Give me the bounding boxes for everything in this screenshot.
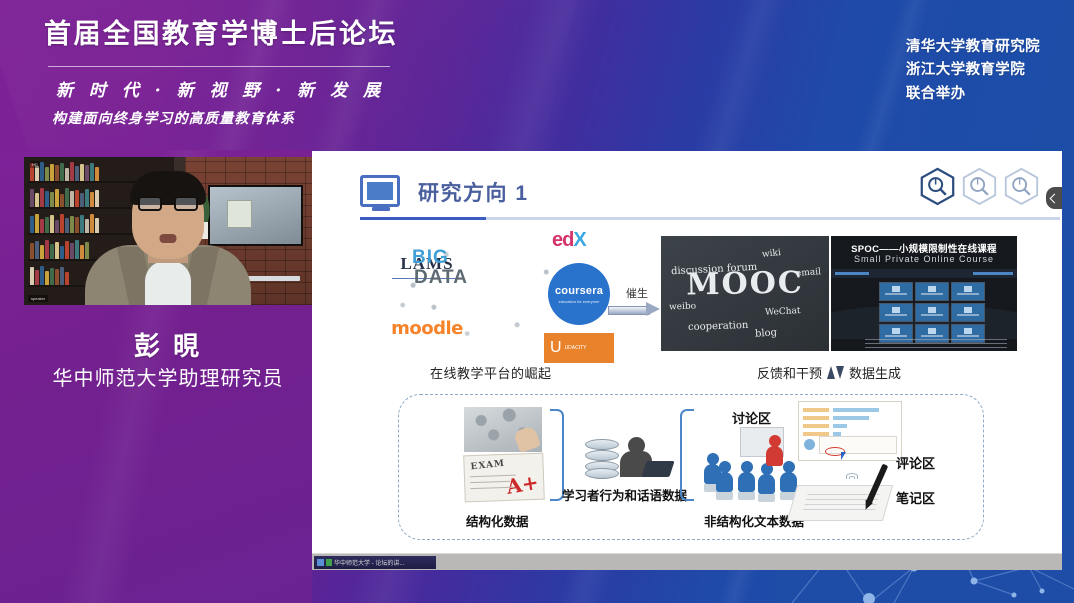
caption-feedback: 反馈和干预 [757, 363, 822, 382]
speaker-figure [85, 181, 251, 305]
wifi-icon [842, 465, 862, 479]
event-title: 首届全国教育学博士后论坛 [44, 18, 430, 52]
slide-title: 研究方向 1 [418, 177, 529, 207]
spoc-title-cn: SPOC——小规模限制性在线课程 [831, 241, 1017, 255]
blackboard-word: email [796, 267, 822, 279]
speaker-affiliation: 华中师范大学助理研究员 [14, 362, 322, 391]
big-data-word-bottom: DATA [414, 267, 468, 289]
mooc-provider-logos: edX coursera education for everyone U UD… [544, 229, 614, 353]
spoc-screenshot: SPOC——小规模限制性在线课程 Small Private Online Co… [831, 236, 1017, 351]
monitor-icon [360, 175, 400, 207]
spoc-navbar [831, 269, 1017, 278]
caption-platform-rise: 在线教学平台的崛起 [430, 363, 552, 382]
spoc-course-card [879, 282, 913, 301]
video-footer-label: speaker [28, 295, 48, 302]
organizer-line-3: 联合举办 [906, 83, 1040, 106]
broadcast-stage: 首届全国教育学博士后论坛 新 时 代 · 新 视 野 · 新 发 展 构建面向终… [0, 0, 1074, 603]
collapse-handle-icon[interactable] [1046, 187, 1062, 209]
right-brace-icon [680, 409, 694, 501]
exam-text: EXAM [470, 459, 505, 473]
big-data-logo: BIG DATA [384, 239, 494, 297]
magnifier-hex-icon[interactable] [919, 167, 956, 205]
shared-screen-taskbar[interactable]: 华中师范大学 - 论坛的讲... [312, 553, 1062, 570]
label-discussion-area: 讨论区 [732, 408, 771, 427]
spoc-course-card [915, 303, 949, 322]
spoc-footer-text [865, 339, 1007, 349]
up-down-arrows-icon [827, 366, 844, 379]
coursera-tagline: education for everyone [559, 299, 600, 304]
edx-text-1: ed [552, 229, 573, 251]
event-header: 首届全国教育学博士后论坛 新 时 代 · 新 视 野 · 新 发 展 构建面向终… [0, 0, 430, 128]
blackboard-word: weibo [669, 301, 696, 312]
eyeglasses [138, 196, 198, 211]
organizer-line-2: 浙江大学教育学院 [906, 59, 1040, 82]
app-icon [326, 559, 332, 566]
edx-logo: edX [552, 229, 608, 255]
header-divider [48, 66, 390, 67]
right-arrow-icon [608, 303, 666, 315]
database-icon [585, 439, 619, 479]
hex-icon-row[interactable] [919, 167, 1040, 205]
video-corner-label: HD [30, 161, 40, 168]
mooc-blackboard: MOOC discussion forum wiki email weibo W… [661, 236, 829, 351]
label-structured-data: 结构化数据 [466, 511, 529, 530]
spoc-course-card [951, 303, 985, 322]
event-subtitle-secondary: 构建面向终身学习的高质量教育体系 [44, 108, 430, 128]
big-data-word-top: BIG [412, 247, 449, 269]
spoc-course-grid [879, 282, 985, 343]
caption-data-generation: 数据生成 [849, 363, 901, 382]
organizers-block: 清华大学教育研究院 浙江大学教育学院 联合举办 [906, 36, 1040, 106]
shared-slide[interactable]: 研究方向 1 [312, 151, 1062, 570]
blackboard-word: wiki [761, 248, 781, 260]
exam-paper-image: EXAM A+ [463, 453, 545, 503]
speaker-name: 彭 晛 [24, 326, 312, 363]
learning-analytics-image [464, 407, 542, 452]
caption-feedback-data: 反馈和干预 数据生成 [757, 363, 901, 382]
spoc-course-card [915, 282, 949, 301]
label-behavior-discourse-data: 学习者行为和话语数据 [562, 485, 687, 504]
spoc-title-en: Small Private Online Course [831, 254, 1017, 264]
magnifier-hex-icon[interactable] [1003, 167, 1040, 205]
coursera-logo: coursera education for everyone [548, 263, 610, 325]
blackboard-word: blog [755, 327, 778, 340]
organizer-line-1: 清华大学教育研究院 [906, 36, 1040, 59]
causal-arrow-label: 催生 [608, 285, 666, 301]
magnifier-hex-icon[interactable] [961, 167, 998, 205]
blackboard-word: WeChat [765, 306, 801, 318]
udacity-wordmark: UDACITY [565, 345, 587, 351]
causal-arrow: 催生 [608, 285, 666, 315]
label-comment-area: 评论区 [896, 453, 935, 472]
taskbar-window-button[interactable]: 华中师范大学 - 论坛的讲... [314, 556, 436, 569]
event-subtitle-primary: 新 时 代 · 新 视 野 · 新 发 展 [44, 80, 430, 102]
spoc-course-card [951, 282, 985, 301]
speaker-video-tile[interactable]: HD speaker [24, 157, 312, 305]
udacity-mark: U [550, 339, 562, 357]
note-taking-image [788, 463, 896, 521]
taskbar-window-label: 华中师范大学 - 论坛的讲... [334, 558, 404, 567]
analyst-figure-icon [618, 437, 672, 479]
udacity-logo: U UDACITY [544, 333, 614, 363]
spoc-course-card [879, 303, 913, 322]
coursera-wordmark: coursera [555, 285, 603, 297]
window-icon [317, 559, 324, 566]
comment-section-image [798, 401, 902, 461]
slide-title-rule [360, 217, 1060, 220]
edx-text-2: X [573, 229, 585, 251]
label-note-area: 笔记区 [896, 488, 935, 507]
blackboard-word: cooperation [688, 320, 749, 333]
